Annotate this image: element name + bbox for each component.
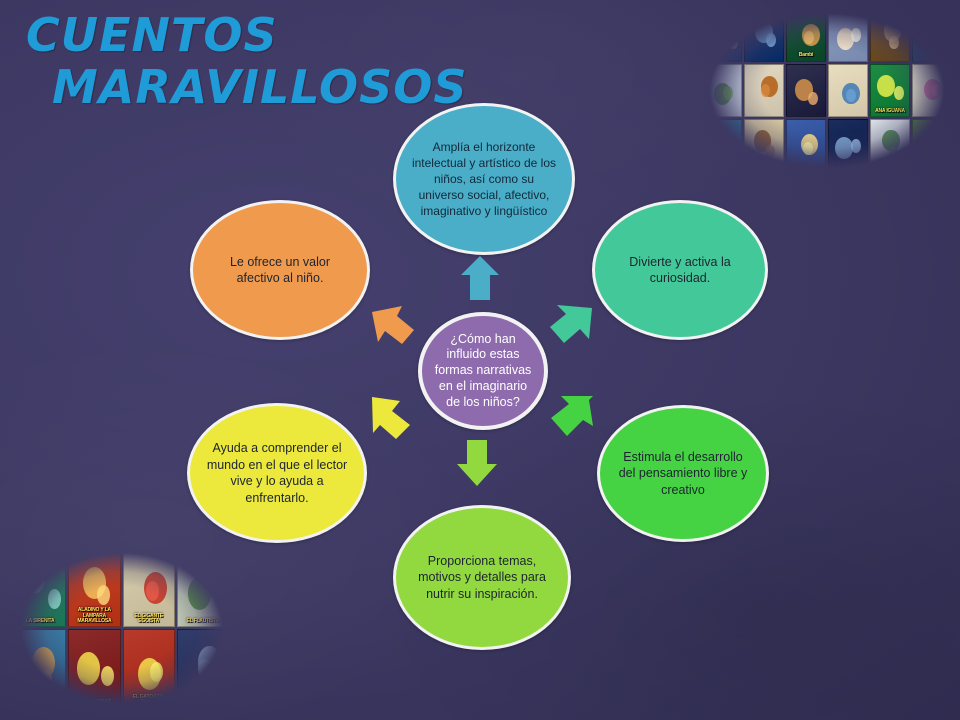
- benefit-text: Proporciona temas, motivos y detalles pa…: [396, 549, 568, 607]
- fairy-tale-book-covers-collage: LA SIRENITAALADINO Y LA LAMPARA MARAVILL…: [14, 548, 229, 708]
- book-cover-tile: [786, 119, 826, 173]
- book-cover-figure: [708, 17, 725, 39]
- benefit-text: Le ofrece un valor afectivo al niño.: [193, 250, 367, 291]
- benefit-text: Amplía el horizonte intelectual y artíst…: [396, 135, 572, 223]
- book-cover-tile: [912, 64, 952, 118]
- arrow-up-icon: [461, 256, 499, 300]
- book-cover-figure: [936, 145, 946, 158]
- arrow-down-right-icon: [549, 392, 595, 438]
- book-cover-tile: [828, 64, 868, 118]
- center-question-text: ¿Cómo han influido estas formas narrativ…: [422, 332, 544, 411]
- book-cover-tile: ANA IGUANA: [870, 64, 910, 118]
- book-cover-title: EL FLAUTISTA: [180, 619, 226, 624]
- book-cover-title: EL GIGANTE EGOISTA: [126, 614, 172, 625]
- book-cover-figure: [808, 92, 818, 105]
- book-cover-figure: [48, 589, 61, 609]
- book-cover-figure: [39, 670, 52, 690]
- book-cover-tile: [870, 8, 910, 62]
- book-cover-tile: ALADINO Y LA LAMPARA MARAVILLOSA: [68, 548, 120, 627]
- book-cover-figure: [765, 145, 775, 158]
- benefit-text: Divierte y activa la curiosidad.: [595, 250, 765, 291]
- book-cover-tile: EL FLAUTISTA: [177, 548, 229, 627]
- book-cover-title: LA SIRENITA: [17, 619, 63, 624]
- book-cover-figure: [727, 147, 737, 160]
- book-cover-figure: [766, 33, 776, 46]
- benefit-circle-curiosidad[interactable]: Divierte y activa la curiosidad.: [592, 200, 768, 340]
- benefit-circle-comprender[interactable]: Ayuda a comprender el mundo en el que el…: [187, 403, 367, 543]
- book-cover-tile: Bambi: [786, 8, 826, 62]
- book-cover-tile: EL REY MIDAS: [68, 629, 120, 708]
- book-cover-title: EL GATO CON BOTAS: [126, 695, 172, 706]
- book-cover-figure: [804, 31, 814, 44]
- book-cover-figure: [150, 662, 163, 682]
- book-cover-figure: [937, 33, 947, 46]
- slide-canvas: CUENTOS MARAVILLOSOS BambiANA IGUANA LA …: [0, 0, 960, 720]
- book-cover-tile: [828, 8, 868, 62]
- benefit-circle-inspiracion[interactable]: Proporciona temas, motivos y detalles pa…: [393, 505, 571, 650]
- book-cover-figure: [101, 666, 114, 686]
- page-title: CUENTOS MARAVILLOSOS: [26, 10, 456, 113]
- arrow-down-left-icon: [370, 393, 414, 439]
- benefit-circle-afectivo[interactable]: Le ofrece un valor afectivo al niño.: [190, 200, 370, 340]
- book-cover-figure: [851, 139, 861, 152]
- collage-tile-grid: LA SIRENITAALADINO Y LA LAMPARA MARAVILL…: [14, 548, 229, 708]
- book-cover-figure: [207, 578, 220, 598]
- book-cover-tile: [744, 119, 784, 173]
- benefit-circle-horizonte[interactable]: Amplía el horizonte intelectual y artíst…: [393, 103, 575, 255]
- book-cover-tile: [177, 629, 229, 708]
- book-cover-title: Bambi: [789, 53, 823, 58]
- benefit-text: Estimula el desarrollo del pensamiento l…: [600, 445, 766, 503]
- benefit-text: Ayuda a comprender el mundo en el que el…: [190, 436, 364, 510]
- book-cover-figure: [723, 86, 733, 99]
- book-cover-tile: [744, 64, 784, 118]
- book-cover-tile: [702, 8, 742, 62]
- book-cover-tile: EL GIGANTE EGOISTA: [123, 548, 175, 627]
- book-cover-tile: [870, 119, 910, 173]
- book-cover-figure: [728, 36, 738, 49]
- book-cover-figure: [77, 652, 100, 684]
- book-cover-tile: [828, 119, 868, 173]
- book-cover-figure: [97, 585, 110, 605]
- book-cover-figure: [851, 28, 861, 41]
- book-cover-figure: [932, 84, 942, 97]
- title-line-1: CUENTOS: [26, 10, 456, 62]
- book-cover-figure: [919, 24, 936, 46]
- title-line-2: MARAVILLOSOS: [52, 62, 456, 114]
- arrow-up-right-icon: [548, 303, 592, 347]
- book-cover-figure: [877, 75, 894, 97]
- benefit-circle-pensamiento[interactable]: Estimula el desarrollo del pensamiento l…: [597, 405, 769, 542]
- book-cover-tile: [702, 64, 742, 118]
- book-cover-tile: [702, 119, 742, 173]
- book-cover-tile: [786, 64, 826, 118]
- book-cover-title: ALADINO Y LA LAMPARA MARAVILLOSA: [71, 608, 117, 624]
- book-cover-figure: [22, 561, 45, 593]
- book-cover-figure: [889, 147, 899, 160]
- book-cover-title: ANA IGUANA: [873, 109, 907, 114]
- book-cover-tile: [912, 8, 952, 62]
- book-cover-tile: LA SIRENITA: [14, 548, 66, 627]
- childrens-book-covers-collage: BambiANA IGUANA: [702, 8, 952, 173]
- collage-tile-grid: BambiANA IGUANA: [702, 8, 952, 173]
- book-cover-tile: EL GATO CON BOTAS: [123, 629, 175, 708]
- book-cover-tile: [744, 8, 784, 62]
- book-cover-tile: [912, 119, 952, 173]
- book-cover-figure: [146, 581, 159, 601]
- book-cover-figure: [889, 36, 899, 49]
- book-cover-title: EL REY MIDAS: [71, 700, 117, 705]
- arrow-down-icon: [455, 440, 499, 486]
- book-cover-figure: [894, 86, 904, 99]
- book-cover-tile: [14, 629, 66, 708]
- arrow-up-left-icon: [372, 306, 414, 348]
- center-question-circle[interactable]: ¿Cómo han influido estas formas narrativ…: [418, 312, 548, 430]
